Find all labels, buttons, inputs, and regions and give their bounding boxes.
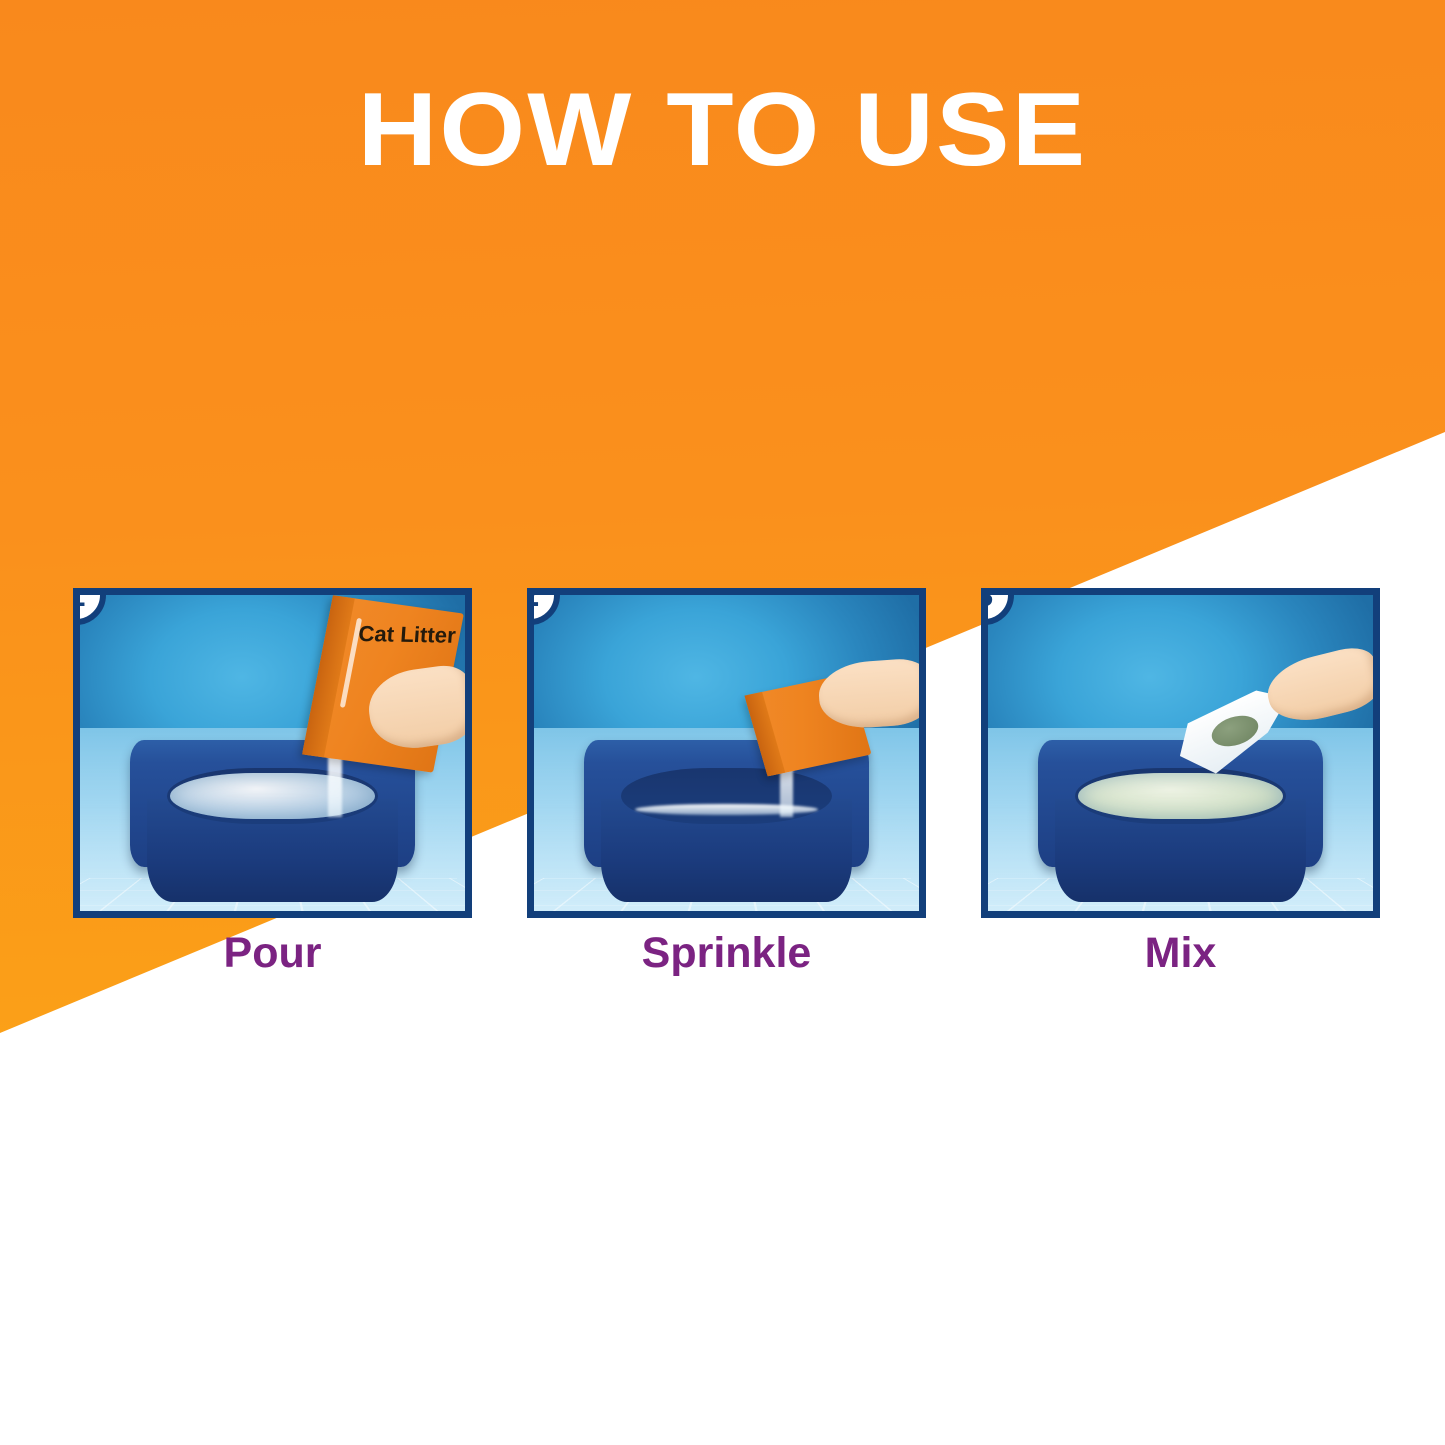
tray-inner: [621, 768, 832, 824]
step-1-image-frame: Cat Litter 1: [73, 588, 472, 918]
step-1-caption: Pour: [73, 930, 472, 977]
step-2-image-frame: 2: [527, 588, 926, 918]
step-2: 2: [527, 588, 926, 918]
step-3: 3: [981, 588, 1380, 918]
step-3-illustration: [988, 595, 1373, 911]
carton-label: Cat Litter: [357, 621, 456, 649]
step-1-illustration: Cat Litter: [80, 595, 465, 911]
step-2-caption: Sprinkle: [527, 930, 926, 977]
step-1: Cat Litter 1: [73, 588, 472, 918]
steps-container: Cat Litter 1: [0, 0, 1445, 1445]
pouring-litter-stream: [328, 755, 342, 817]
how-to-use-infographic: HOW TO USE: [0, 0, 1445, 1445]
step-3-image-frame: 3: [981, 588, 1380, 918]
step-2-illustration: [534, 595, 919, 911]
step-3-caption: Mix: [981, 930, 1380, 977]
litter-fill: [170, 773, 375, 819]
litter-tray-icon: [1038, 740, 1323, 866]
mixed-litter-fill: [1078, 773, 1283, 819]
